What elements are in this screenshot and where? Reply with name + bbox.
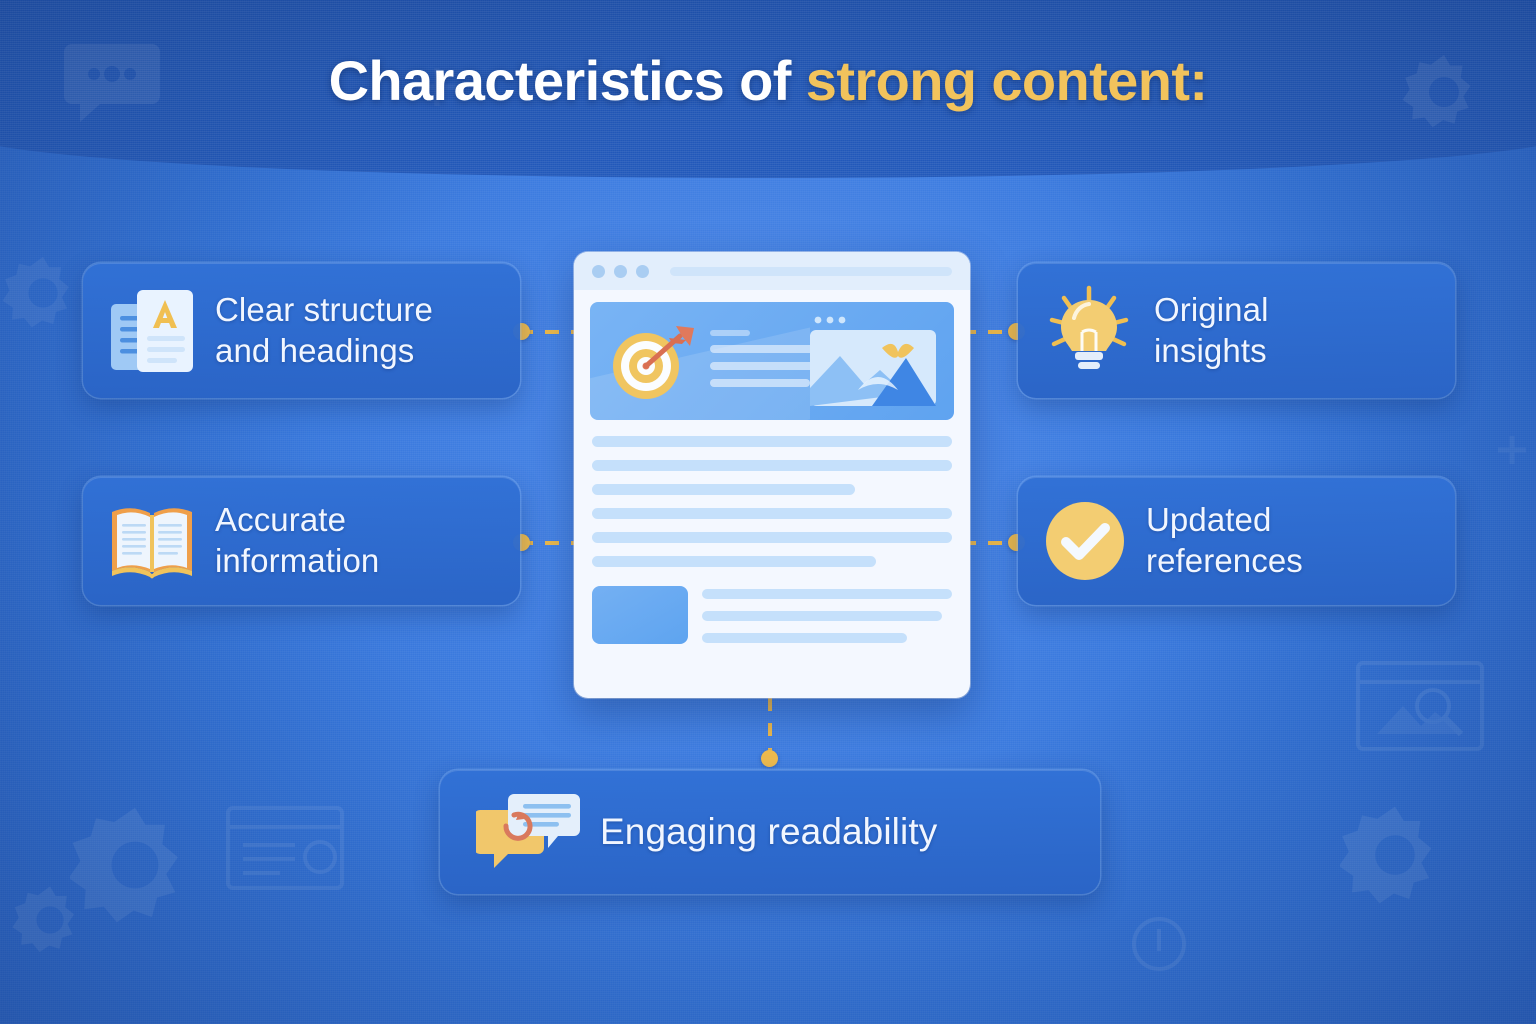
infographic-canvas: Characteristics of strong content: [0, 0, 1536, 1024]
page-title-lead: Characteristics of [329, 49, 806, 112]
browser-chrome [574, 252, 970, 290]
article-footer-block [574, 580, 970, 655]
article-thumbnail [592, 586, 688, 644]
card-label: Accurate information [215, 500, 379, 582]
check-circle-icon [1044, 500, 1126, 582]
card-label: Engaging readability [600, 809, 937, 855]
document-with-letter-a-icon [109, 286, 195, 376]
gear-icon [10, 880, 90, 960]
open-book-icon [109, 502, 195, 580]
card-original-insights[interactable]: Original insights [1018, 263, 1455, 398]
hero-text-lines [710, 330, 814, 396]
connector-dot [761, 750, 778, 767]
page-title: Characteristics of strong content: [0, 48, 1536, 113]
lightbulb-icon [1044, 284, 1134, 378]
window-dot-icon [636, 265, 649, 278]
address-bar [670, 267, 952, 276]
window-dot-icon [592, 265, 605, 278]
article-hero [590, 302, 954, 420]
gear-icon [1340, 800, 1450, 910]
card-engaging-readability[interactable]: Engaging readability [440, 770, 1100, 894]
connector-engaging-readability [768, 698, 772, 758]
card-label: Updated references [1146, 500, 1303, 582]
gear-icon [70, 800, 200, 930]
target-with-arrow-icon [606, 322, 698, 404]
browser-search-icon [1355, 660, 1485, 752]
gear-icon [0, 250, 86, 336]
page-title-accent: strong content: [806, 49, 1208, 112]
article-footer-lines [702, 586, 952, 655]
image-placeholder-mountains-bird-icon [806, 312, 940, 410]
card-label: Clear structure and headings [215, 290, 433, 372]
card-accurate-information[interactable]: Accurate information [83, 477, 520, 605]
card-clear-structure[interactable]: Clear structure and headings [83, 263, 520, 398]
speech-bubbles-icon [476, 790, 580, 874]
web-article-preview [574, 252, 970, 698]
plus-icon [1492, 430, 1532, 470]
circle-icon [1130, 915, 1188, 973]
window-dot-icon [614, 265, 627, 278]
card-updated-references[interactable]: Updated references [1018, 477, 1455, 605]
document-card-icon [225, 805, 345, 891]
article-body-lines [574, 420, 970, 567]
card-label: Original insights [1154, 290, 1269, 372]
